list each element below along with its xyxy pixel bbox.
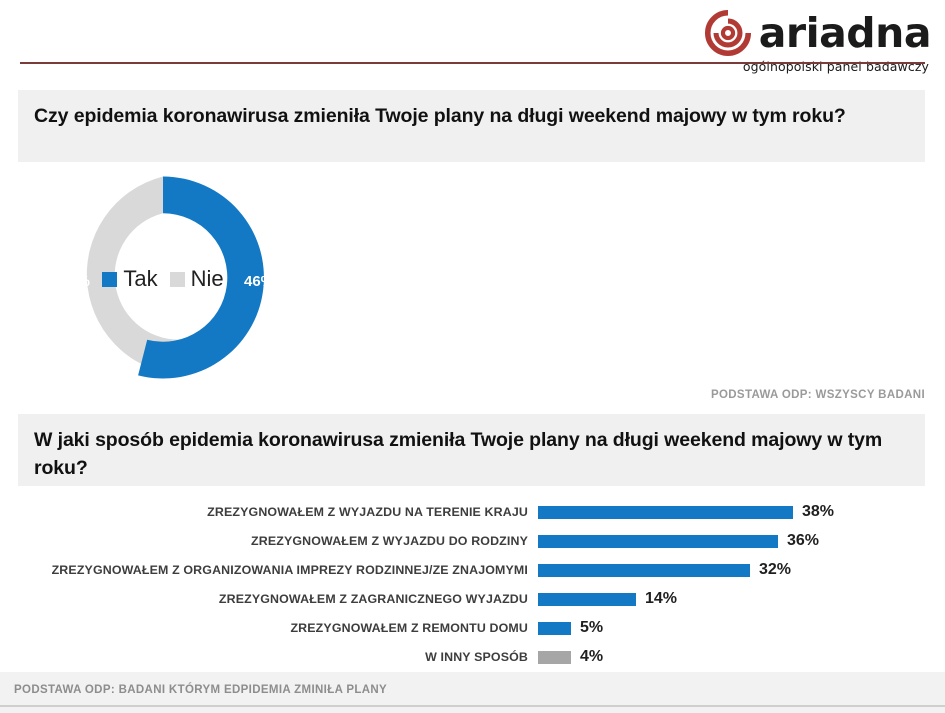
bar-value: 5% — [580, 619, 603, 637]
source-note-1: PODSTAWA ODP: WSZYSCY BADANI — [711, 389, 925, 401]
ariadna-spiral-icon — [705, 10, 751, 56]
question-title-2: W jaki sposób epidemia koronawirusa zmie… — [34, 427, 909, 482]
bar-fill — [538, 535, 778, 548]
bar-fill — [538, 622, 571, 635]
bar-value: 32% — [759, 561, 791, 579]
bar-label: ZREZYGNOWAŁEM Z ORGANIZOWANIA IMPREZY RO… — [0, 563, 538, 577]
bar-row: W INNY SPOSÓB 4% — [0, 643, 945, 671]
legend-swatch-nie — [170, 272, 185, 287]
brand-name: ariadna — [759, 13, 931, 54]
brand-logo: ariadna ogólnopolski panel badawczy — [705, 10, 931, 74]
bar-track: 5% — [538, 614, 945, 642]
bar-track: 38% — [538, 498, 945, 526]
bar-label: W INNY SPOSÓB — [0, 650, 538, 664]
legend-label-nie: Nie — [191, 266, 224, 292]
legend-item-nie[interactable]: Nie — [170, 266, 224, 292]
bar-track: 14% — [538, 585, 945, 613]
bar-row: ZREZYGNOWAŁEM Z REMONTU DOMU 5% — [0, 614, 945, 642]
bar-label: ZREZYGNOWAŁEM Z ZAGRANICZNEGO WYJAZDU — [0, 592, 538, 606]
bar-row: ZREZYGNOWAŁEM Z ZAGRANICZNEGO WYJAZDU 14… — [0, 585, 945, 613]
bar-track: 36% — [538, 527, 945, 555]
donut-chart: 54% 46% Tak Nie — [48, 170, 278, 385]
question-banner-2: W jaki sposób epidemia koronawirusa zmie… — [18, 414, 925, 486]
bar-value: 4% — [580, 648, 603, 666]
question-banner-1: Czy epidemia koronawirusa zmieniła Twoje… — [18, 90, 925, 162]
bar-row: ZREZYGNOWAŁEM Z WYJAZDU NA TERENIE KRAJU… — [0, 498, 945, 526]
bar-fill — [538, 564, 750, 577]
bar-value: 14% — [645, 590, 677, 608]
bar-value: 38% — [802, 503, 834, 521]
bar-label: ZREZYGNOWAŁEM Z WYJAZDU NA TERENIE KRAJU — [0, 505, 538, 519]
donut-chart-section: 54% 46% Tak Nie — [0, 165, 945, 390]
bar-fill — [538, 593, 636, 606]
logo-row: ariadna — [705, 10, 931, 56]
source-note-2: PODSTAWA ODP: BADANI KTÓRYM EDPIDEMIA ZM… — [14, 684, 387, 696]
bar-row: ZREZYGNOWAŁEM Z ORGANIZOWANIA IMPREZY RO… — [0, 556, 945, 584]
header-divider — [20, 62, 925, 64]
legend-swatch-tak — [102, 272, 117, 287]
bar-label: ZREZYGNOWAŁEM Z WYJAZDU DO RODZINY — [0, 534, 538, 548]
legend-item-tak[interactable]: Tak — [102, 266, 157, 292]
donut-legend: Tak Nie — [48, 266, 278, 292]
page-header: ariadna ogólnopolski panel badawczy — [0, 0, 945, 78]
bar-fill — [538, 506, 793, 519]
bar-chart: ZREZYGNOWAŁEM Z WYJAZDU NA TERENIE KRAJU… — [0, 498, 945, 670]
question-title-1: Czy epidemia koronawirusa zmieniła Twoje… — [34, 103, 909, 131]
bar-label: ZREZYGNOWAŁEM Z REMONTU DOMU — [0, 621, 538, 635]
bar-fill — [538, 651, 571, 664]
footer-divider — [0, 705, 945, 707]
bar-track: 4% — [538, 643, 945, 671]
bar-row: ZREZYGNOWAŁEM Z WYJAZDU DO RODZINY 36% — [0, 527, 945, 555]
legend-label-tak: Tak — [123, 266, 157, 292]
bar-value: 36% — [787, 532, 819, 550]
bar-track: 32% — [538, 556, 945, 584]
